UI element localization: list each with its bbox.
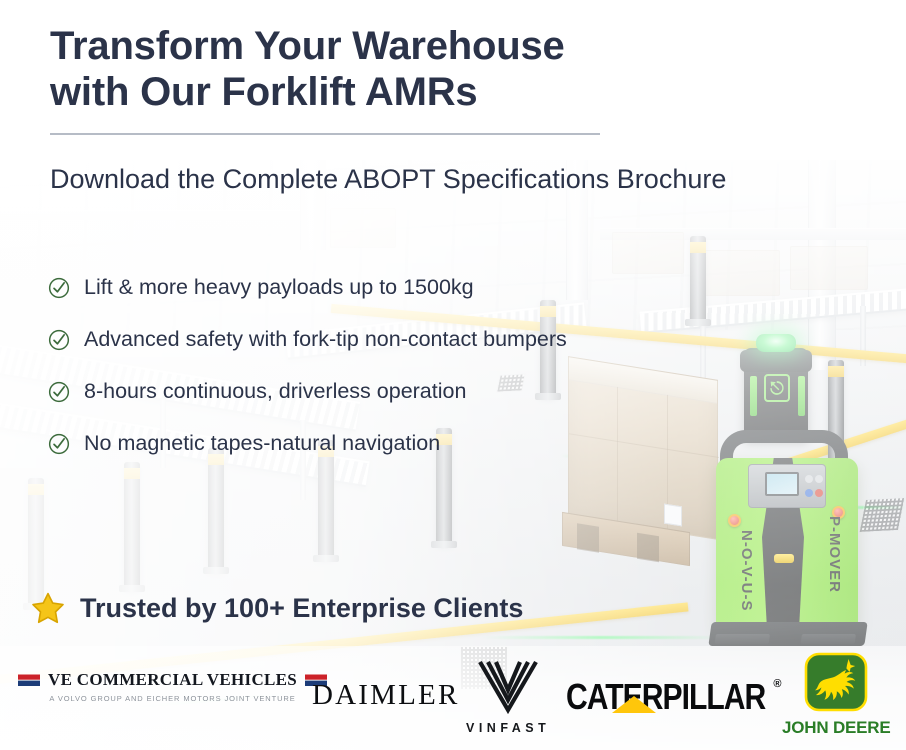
- john-deere-name: JOHN DEERE: [782, 718, 891, 738]
- trust-badge: Trusted by 100+ Enterprise Clients: [30, 590, 523, 626]
- logo-caterpillar: CATERPILLAR ®: [566, 676, 782, 712]
- ad-canvas: ⎋ N-O-V-U-S P-MOVER: [0, 0, 906, 750]
- subheading: Download the Complete ABOPT Specificatio…: [50, 163, 730, 197]
- caterpillar-name: CATERPILLAR: [566, 676, 765, 718]
- list-item: Advanced safety with fork-tip non-contac…: [48, 314, 688, 366]
- feature-text: Advanced safety with fork-tip non-contac…: [84, 327, 567, 353]
- list-item: No magnetic tapes-natural navigation: [48, 418, 688, 470]
- trust-text: Trusted by 100+ Enterprise Clients: [80, 593, 523, 624]
- feature-list: Lift & more heavy payloads up to 1500kg …: [48, 262, 688, 470]
- feature-text: Lift & more heavy payloads up to 1500kg: [84, 275, 474, 301]
- caterpillar-triangle-icon: [612, 696, 656, 713]
- caterpillar-registered-mark: ®: [773, 678, 781, 690]
- logo-john-deere: JOHN DEERE: [782, 652, 891, 738]
- check-circle-icon: [48, 277, 70, 299]
- vecv-tagline: A VOLVO GROUP AND EICHER MOTORS JOINT VE…: [49, 694, 295, 703]
- vinfast-name: VINFAST: [466, 721, 550, 735]
- vecv-name: VE COMMERCIAL VEHICLES: [48, 670, 297, 690]
- headline-line-2: with Our Forklift AMRs: [50, 70, 477, 114]
- check-circle-icon: [48, 329, 70, 351]
- feature-text: 8-hours continuous, driverless operation: [84, 379, 466, 405]
- check-circle-icon: [48, 381, 70, 403]
- logo-vinfast: VINFAST: [466, 660, 550, 735]
- logo-daimler: DAIMLER: [312, 679, 460, 712]
- leaping-deer-shield-icon: [803, 652, 869, 714]
- chevron-v-mark-icon: [470, 660, 546, 718]
- page-title: Transform Your Warehouse with Our Forkli…: [50, 24, 670, 115]
- headline-line-1: Transform Your Warehouse: [50, 24, 565, 68]
- star-icon: [30, 590, 66, 626]
- client-logo-bar: VE COMMERCIAL VEHICLES A VOLVO GROUP AND…: [0, 646, 906, 750]
- logo-ve-commercial-vehicles: VE COMMERCIAL VEHICLES A VOLVO GROUP AND…: [18, 670, 327, 703]
- feature-text: No magnetic tapes-natural navigation: [84, 431, 440, 457]
- flag-bars-icon: [18, 674, 40, 687]
- ad-content: Transform Your Warehouse with Our Forkli…: [0, 0, 906, 750]
- list-item: 8-hours continuous, driverless operation: [48, 366, 688, 418]
- check-circle-icon: [48, 433, 70, 455]
- list-item: Lift & more heavy payloads up to 1500kg: [48, 262, 688, 314]
- daimler-name: DAIMLER: [312, 679, 460, 712]
- title-divider: [50, 133, 600, 135]
